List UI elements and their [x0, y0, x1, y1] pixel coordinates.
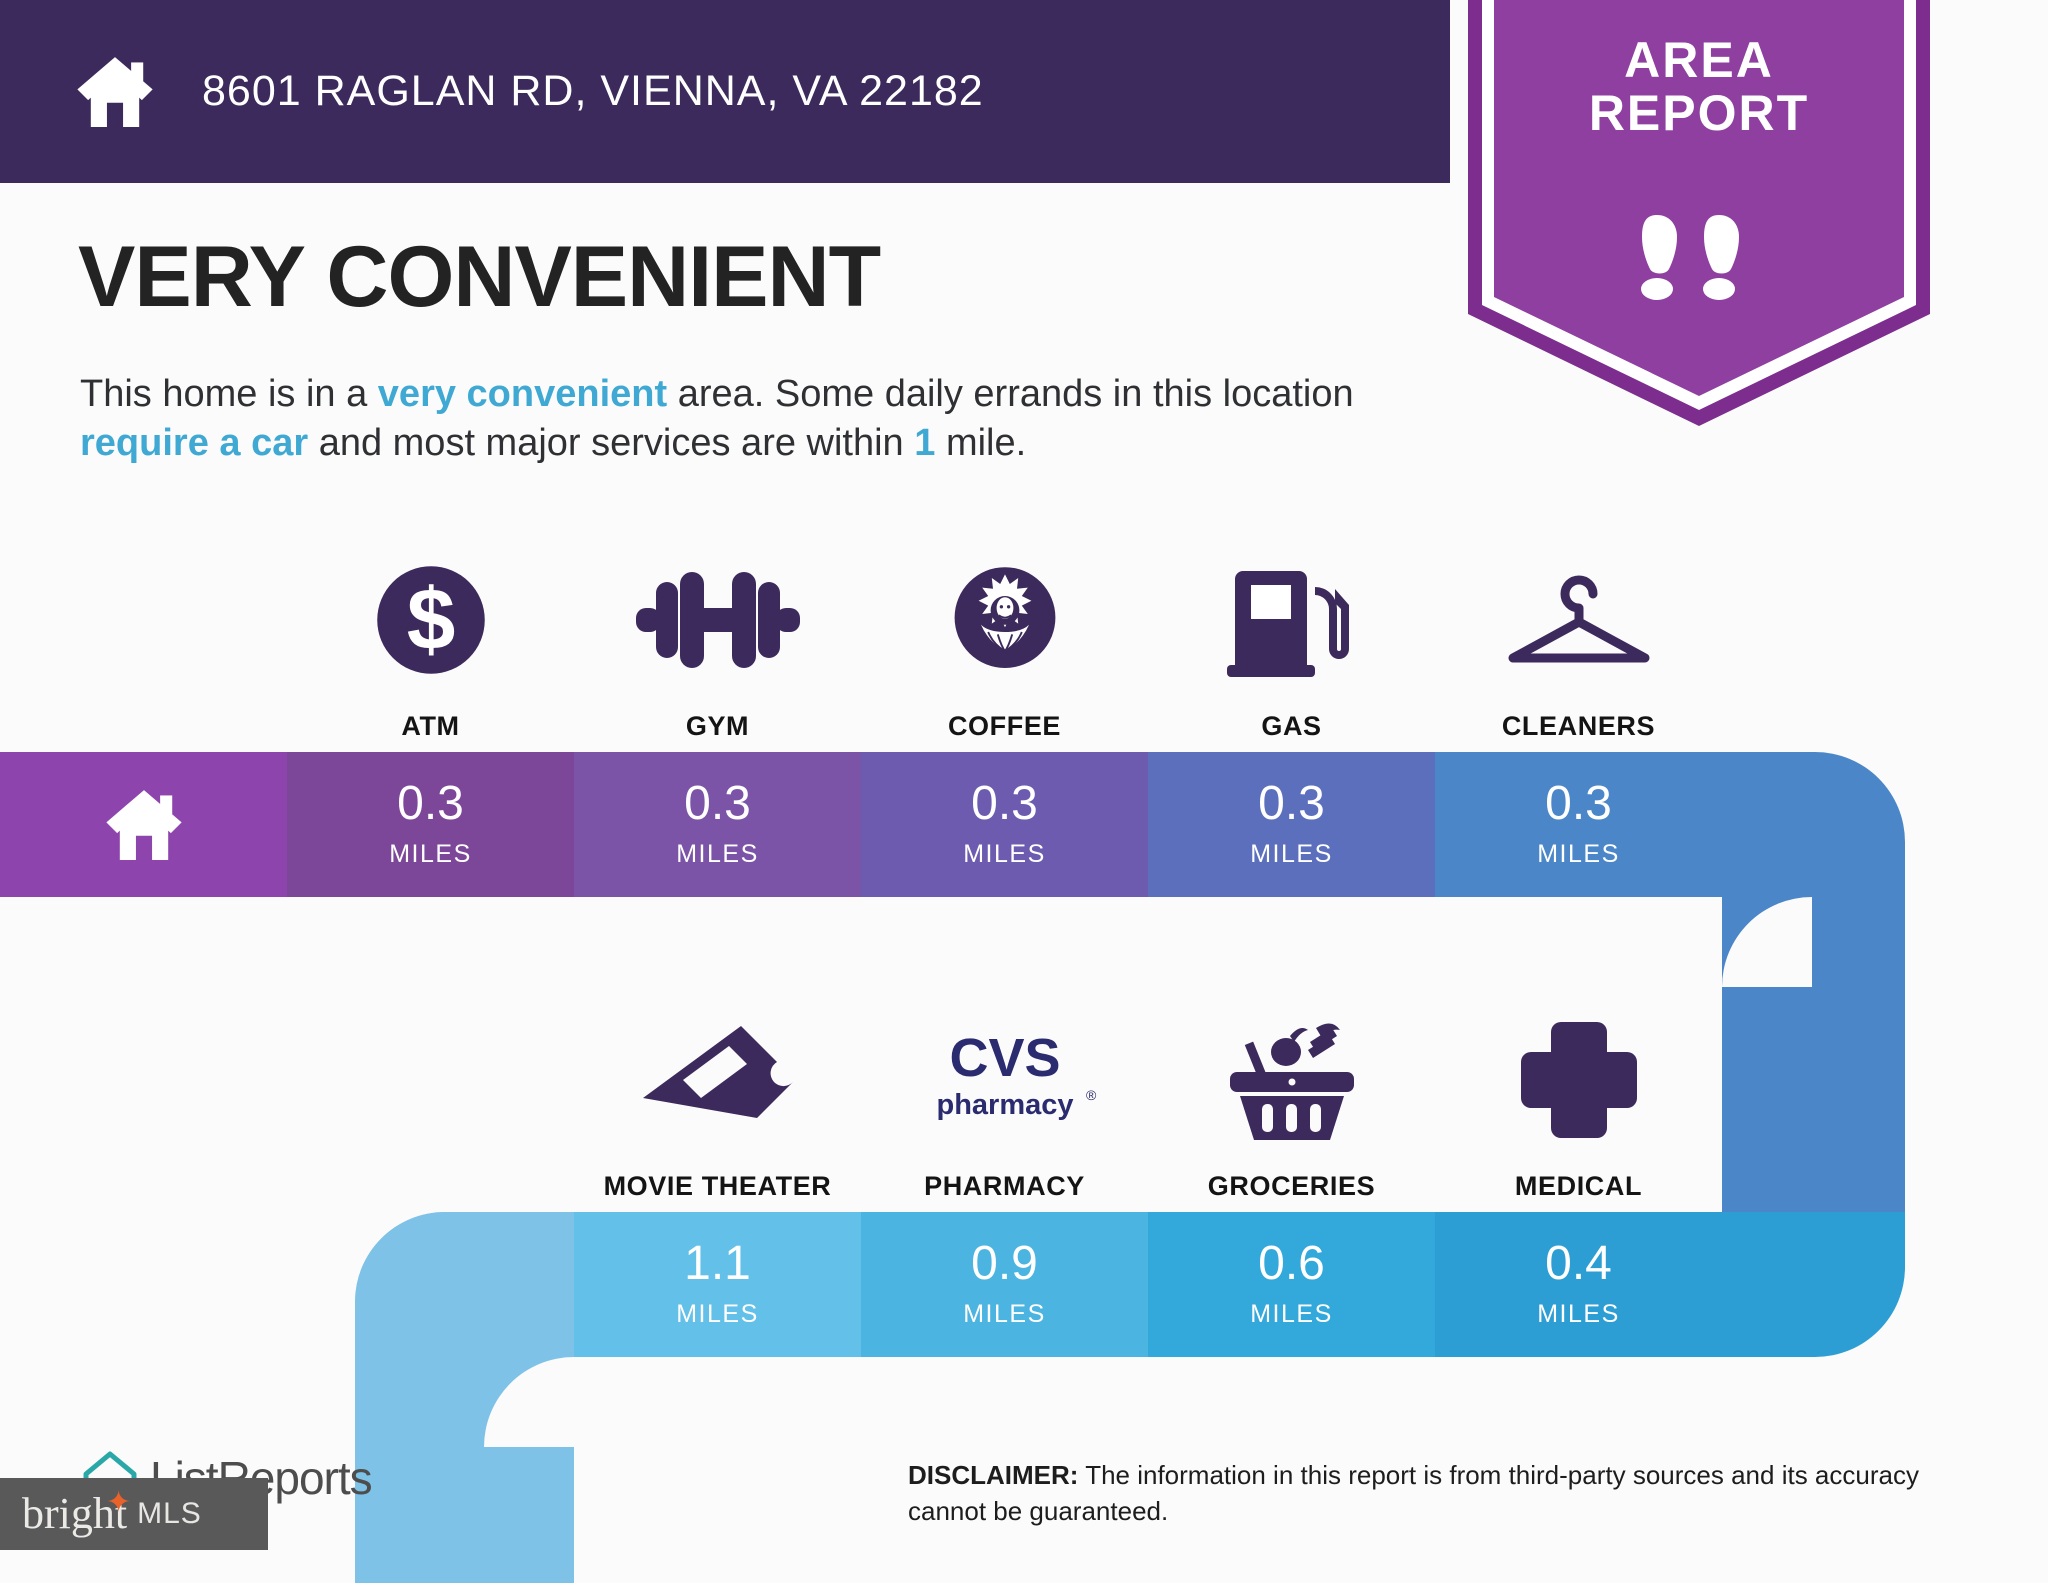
ticket-icon [574, 1005, 861, 1155]
desc-part-4: mile. [935, 422, 1026, 464]
home-icon [0, 782, 287, 868]
amenity-label-groceries: GROCERIES [1148, 1171, 1435, 1202]
distance-unit-pharmacy: MILES [861, 1300, 1148, 1329]
svg-text:$: $ [406, 570, 455, 668]
footprints-icon [1635, 209, 1763, 309]
distance-unit-movie-theater: MILES [574, 1300, 861, 1329]
distance-segment-groceries: 0.6 MILES [1148, 1212, 1435, 1357]
distance-value-coffee: 0.3 [861, 780, 1148, 828]
distance-bar-row-2: 1.1 MILES 0.9 MILES 0.6 MILES 0.4 MILES [355, 1212, 1905, 1357]
starbucks-icon [861, 545, 1148, 695]
disclaimer-label: DISCLAIMER: [908, 1460, 1078, 1490]
dumbbell-icon [574, 545, 861, 695]
amenity-label-movie-theater: MOVIE THEATER [574, 1171, 861, 1202]
cvs-pharmacy-icon: CVS pharmacy ® [861, 1005, 1148, 1155]
home-icon [72, 49, 158, 135]
distance-unit-medical: MILES [1435, 1300, 1722, 1329]
star-icon: ✦ [106, 1488, 131, 1518]
distance-value-pharmacy: 0.9 [861, 1240, 1148, 1288]
distance-value-atm: 0.3 [287, 780, 574, 828]
property-address: 8601 RAGLAN RD, VIENNA, VA 22182 [202, 67, 984, 116]
desc-highlight-3: 1 [914, 422, 935, 464]
desc-part-1: This home is in a [80, 373, 378, 415]
distance-bar-row-1: 0.3 MILES 0.3 MILES 0.3 MILES 0.3 MILES … [0, 752, 1905, 897]
description-text: This home is in a very convenient area. … [80, 370, 1450, 469]
home-segment [0, 752, 287, 897]
amenity-label-pharmacy: PHARMACY [861, 1171, 1148, 1202]
dollar-circle-icon: $ [287, 545, 574, 695]
distance-segment-medical: 0.4 MILES [1435, 1212, 1722, 1357]
desc-highlight-2: require a car [80, 422, 308, 464]
distance-segment-atm: 0.3 MILES [287, 752, 574, 897]
distance-unit-gas: MILES [1148, 840, 1435, 869]
bright-wordmark: bright✦ [22, 1492, 127, 1536]
amenity-label-gym: GYM [574, 711, 861, 742]
distance-segment-pharmacy: 0.9 MILES [861, 1212, 1148, 1357]
gas-pump-icon [1148, 545, 1435, 695]
amenity-label-atm: ATM [287, 711, 574, 742]
distance-segment-coffee: 0.3 MILES [861, 752, 1148, 897]
distance-unit-groceries: MILES [1148, 1300, 1435, 1329]
desc-part-3: and most major services are within [308, 422, 914, 464]
bar1-tail [1722, 752, 1905, 897]
distance-segment-cleaners: 0.3 MILES [1435, 752, 1722, 897]
svg-text:CVS: CVS [949, 1028, 1060, 1088]
amenity-label-gas: GAS [1148, 711, 1435, 742]
desc-highlight-1: very convenient [378, 373, 667, 415]
distance-value-gas: 0.3 [1148, 780, 1435, 828]
desc-part-2: area. Some daily errands in this locatio… [667, 373, 1353, 415]
distance-value-medical: 0.4 [1435, 1240, 1722, 1288]
amenity-label-cleaners: CLEANERS [1435, 711, 1722, 742]
bright-mls-watermark: bright✦ MLS [0, 1478, 268, 1550]
distance-segment-gym: 0.3 MILES [574, 752, 861, 897]
area-report-badge: AREA REPORT [1468, 0, 1930, 426]
svg-text:®: ® [1086, 1087, 1097, 1103]
badge-line-1: AREA [1468, 34, 1930, 87]
distance-value-gym: 0.3 [574, 780, 861, 828]
header-bar: 8601 RAGLAN RD, VIENNA, VA 22182 [0, 0, 1450, 183]
bar2-tail [1722, 1212, 1905, 1357]
distance-unit-gym: MILES [574, 840, 861, 869]
page-title: VERY CONVENIENT [78, 228, 880, 327]
distance-unit-coffee: MILES [861, 840, 1148, 869]
mls-text: MLS [137, 1497, 202, 1531]
amenity-label-coffee: COFFEE [861, 711, 1148, 742]
disclaimer: DISCLAIMER: The information in this repo… [908, 1458, 1978, 1530]
distance-value-movie-theater: 1.1 [574, 1240, 861, 1288]
distance-segment-movie-theater: 1.1 MILES [574, 1212, 861, 1357]
badge-title: AREA REPORT [1468, 34, 1930, 140]
distance-unit-cleaners: MILES [1435, 840, 1722, 869]
svg-text:pharmacy: pharmacy [936, 1089, 1073, 1121]
hanger-icon [1435, 545, 1722, 695]
distance-value-cleaners: 0.3 [1435, 780, 1722, 828]
medical-cross-icon [1435, 1005, 1722, 1155]
distance-value-groceries: 0.6 [1148, 1240, 1435, 1288]
grocery-basket-icon [1148, 1005, 1435, 1155]
distance-segment-gas: 0.3 MILES [1148, 752, 1435, 897]
distance-unit-atm: MILES [287, 840, 574, 869]
amenity-label-medical: MEDICAL [1435, 1171, 1722, 1202]
badge-line-2: REPORT [1468, 87, 1930, 140]
